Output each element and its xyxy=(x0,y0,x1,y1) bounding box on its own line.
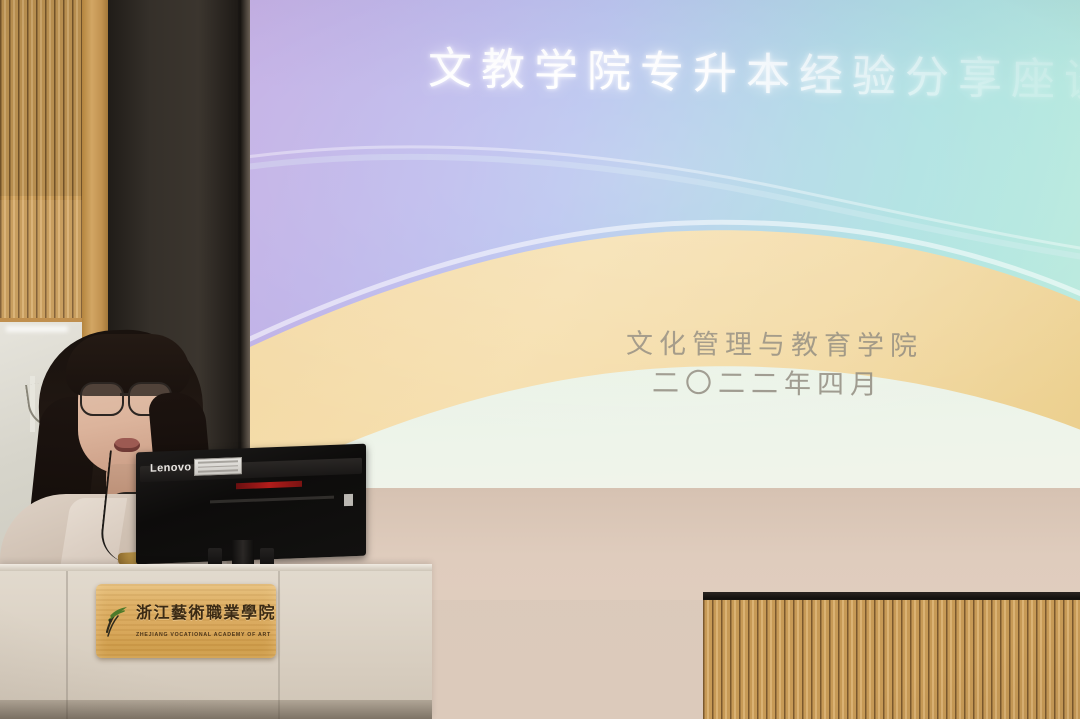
plaque-content: 浙江藝術職業學院 ZHEJIANG VOCATIONAL ACADEMY OF … xyxy=(104,599,268,641)
plaque-chinese-name: 浙江藝術職業學院 xyxy=(136,605,276,622)
plaque-english-name: ZHEJIANG VOCATIONAL ACADEMY OF ART xyxy=(136,632,271,638)
academy-logo-icon xyxy=(104,602,130,638)
conference-photo: 文教学院专升本经验分享座谈会 文化管理与教育学院 二〇二二年四月 xyxy=(0,0,1080,719)
plaque-text-group: 浙江藝術職業學院 ZHEJIANG VOCATIONAL ACADEMY OF … xyxy=(136,599,276,641)
lens-left xyxy=(80,382,124,416)
computer-monitor[interactable]: Lenovo xyxy=(136,448,366,574)
podium-top-edge xyxy=(0,564,432,571)
lenovo-logo: Lenovo xyxy=(150,461,192,475)
projector-falloff xyxy=(248,0,1080,492)
projection-screen: 文教学院专升本经验分享座谈会 文化管理与教育学院 二〇二二年四月 xyxy=(248,0,1080,492)
podium-panel-seam-right xyxy=(278,571,280,719)
podium-base-shadow xyxy=(0,700,432,719)
podium-plaque: 浙江藝術職業學院 ZHEJIANG VOCATIONAL ACADEMY OF … xyxy=(96,584,276,658)
monitor-asset-sticker xyxy=(194,457,242,476)
monitor-corner-label xyxy=(344,494,353,506)
wood-slat-panel-right xyxy=(703,600,1080,719)
podium-panel-seam-left xyxy=(66,571,68,719)
